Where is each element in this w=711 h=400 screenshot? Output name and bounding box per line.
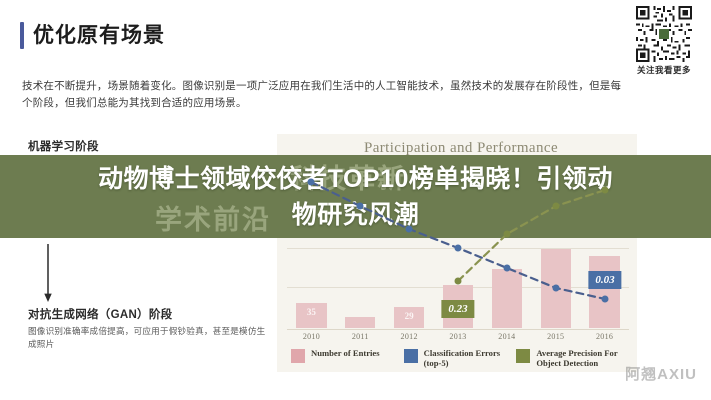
data-point — [503, 230, 510, 237]
data-point — [552, 203, 559, 210]
page-title: 优化原有场景 — [20, 22, 165, 49]
qr-code-icon[interactable] — [636, 6, 692, 62]
legend-item-average-precision: Average Precision For Object Detection — [516, 348, 629, 368]
banner-headline-line-2: 物研究风潮 — [292, 197, 420, 233]
annotation-average-precision-2013: 0.23 — [441, 300, 474, 318]
watermark: 阿翘AXIU — [625, 363, 697, 384]
qr-code-block[interactable]: 关注我看更多 — [629, 6, 699, 76]
flow-step-desc: 图像识别准确率成倍提高，可应用于假钞验真，甚至是模仿生成照片 — [28, 325, 268, 351]
x-axis-labels: 2010 2011 2012 2013 2014 2015 2016 — [287, 332, 629, 341]
legend-item-classification-errors: Classification Errors (top-5) — [404, 348, 517, 368]
slide-canvas: 优化原有场景 技术在不断提升，场景随着变化。图像识别是一项广泛应用在我们生活中的… — [0, 0, 711, 400]
title-accent-bar — [20, 22, 24, 49]
intro-paragraph: 技术在不断提升，场景随着变化。图像识别是一项广泛应用在我们生活中的人工智能技术，… — [22, 78, 622, 112]
data-point — [602, 187, 609, 194]
annotation-classification-error-2016: 0.03 — [588, 271, 621, 289]
flow-step-title: 对抗生成网络（GAN）阶段 — [28, 308, 268, 323]
data-point — [552, 285, 559, 292]
bar: 29 — [394, 307, 424, 328]
bar — [345, 317, 375, 328]
legend-label: Number of Entries — [311, 348, 380, 358]
legend-item-number-of-entries: Number of Entries — [291, 348, 404, 368]
data-point — [455, 245, 462, 252]
data-point — [356, 203, 363, 210]
legend-swatch — [291, 349, 305, 363]
data-point — [602, 296, 609, 303]
data-point — [307, 179, 314, 186]
bar — [589, 256, 619, 328]
legend-swatch — [404, 349, 418, 363]
arrow-down-icon — [42, 244, 54, 302]
data-point — [455, 277, 462, 284]
x-tick-label: 2012 — [385, 332, 434, 341]
bar — [492, 269, 522, 328]
flow-step-gan: 对抗生成网络（GAN）阶段 图像识别准确率成倍提高，可应用于假钞验真，甚至是模仿… — [28, 308, 268, 351]
legend-label: Average Precision For Object Detection — [536, 348, 629, 368]
x-tick-label: 2015 — [531, 332, 580, 341]
x-tick-label: 2011 — [336, 332, 385, 341]
bar: 35 — [296, 303, 326, 328]
bar-value-label: 29 — [405, 311, 414, 321]
x-tick-label: 2010 — [287, 332, 336, 341]
banner-headline: 动物博士领域佼佼者TOP10榜单揭晓！引领动 物研究风潮 — [0, 155, 711, 238]
x-axis-line — [287, 329, 629, 330]
data-point — [503, 265, 510, 272]
legend-swatch — [516, 349, 530, 363]
banner-headline-line-1: 动物博士领域佼佼者TOP10榜单揭晓！引领动 — [98, 161, 613, 197]
headline-banner: 科技革新 学术前沿 动物博士领域佼佼者TOP10榜单揭晓！引领动 物研究风潮 — [0, 155, 711, 238]
chart-legend: Number of Entries Classification Errors … — [291, 348, 629, 368]
qr-caption: 关注我看更多 — [629, 64, 699, 76]
x-tick-label: 2016 — [580, 332, 629, 341]
legend-label: Classification Errors (top-5) — [424, 348, 517, 368]
x-tick-label: 2014 — [482, 332, 531, 341]
x-tick-label: 2013 — [434, 332, 483, 341]
data-point — [406, 225, 413, 232]
slide-title-text: 优化原有场景 — [33, 25, 165, 46]
flow-step-title: 机器学习阶段 — [28, 140, 268, 155]
bar-value-label: 35 — [307, 307, 316, 317]
